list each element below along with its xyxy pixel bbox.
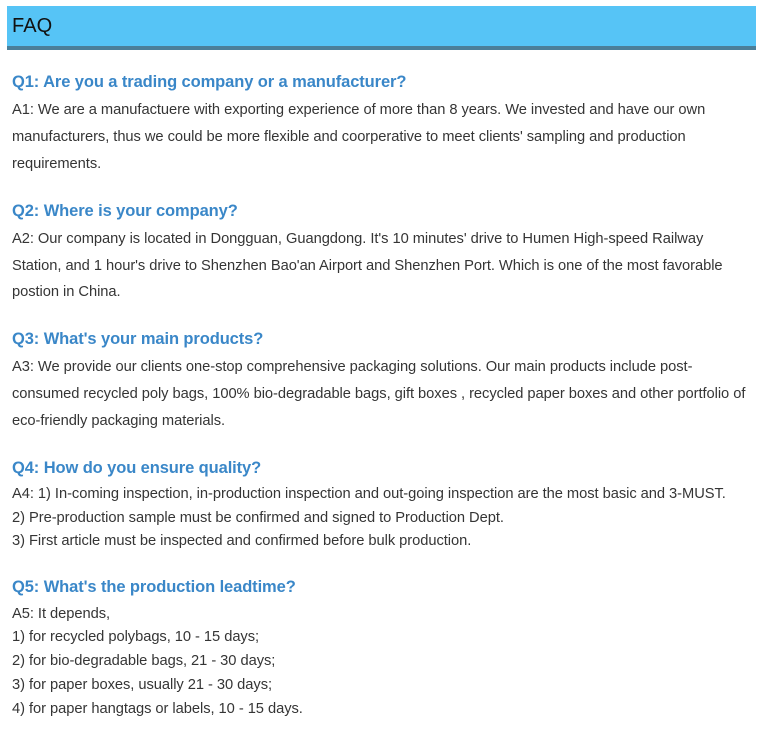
faq-answer-a4-line-2: 2) Pre-production sample must be confirm… <box>12 507 753 531</box>
faq-answer-a3: A3: We provide our clients one-stop comp… <box>12 354 753 434</box>
faq-item-q1: Q1: Are you a trading company or a manuf… <box>12 71 753 178</box>
faq-answer-a5-line-5: 4) for paper hangtags or labels, 10 - 15… <box>12 698 753 722</box>
faq-question-q3: Q3: What's your main products? <box>12 328 753 350</box>
faq-item-q3: Q3: What's your main products? A3: We pr… <box>12 328 753 435</box>
faq-question-q1: Q1: Are you a trading company or a manuf… <box>12 71 753 93</box>
faq-answer-a5-line-4: 3) for paper boxes, usually 21 - 30 days… <box>12 674 753 698</box>
faq-item-q2: Q2: Where is your company? A2: Our compa… <box>12 200 753 307</box>
faq-question-q5: Q5: What's the production leadtime? <box>12 576 753 598</box>
faq-answer-a2: A2: Our company is located in Dongguan, … <box>12 226 753 306</box>
faq-answer-a5-line-2: 1) for recycled polybags, 10 - 15 days; <box>12 626 753 650</box>
faq-answer-a4-line-3: 3) First article must be inspected and c… <box>12 530 753 554</box>
faq-question-q4: Q4: How do you ensure quality? <box>12 457 753 479</box>
faq-item-q4: Q4: How do you ensure quality? A4: 1) In… <box>12 457 753 555</box>
faq-content: Q1: Are you a trading company or a manuf… <box>0 71 765 722</box>
faq-answer-a5: A5: It depends, 1) for recycled polybags… <box>12 603 753 722</box>
faq-header-bar: FAQ <box>7 6 756 50</box>
faq-item-q5: Q5: What's the production leadtime? A5: … <box>12 576 753 721</box>
faq-question-q2: Q2: Where is your company? <box>12 200 753 222</box>
page-title: FAQ <box>7 16 52 36</box>
faq-answer-a4-line-1: A4: 1) In-coming inspection, in-producti… <box>12 483 753 507</box>
faq-answer-a1: A1: We are a manufactuere with exporting… <box>12 97 753 177</box>
faq-page: FAQ Q1: Are you a trading company or a m… <box>0 6 765 754</box>
faq-answer-a5-line-1: A5: It depends, <box>12 603 753 627</box>
faq-answer-a4: A4: 1) In-coming inspection, in-producti… <box>12 483 753 554</box>
faq-answer-a5-line-3: 2) for bio-degradable bags, 21 - 30 days… <box>12 650 753 674</box>
